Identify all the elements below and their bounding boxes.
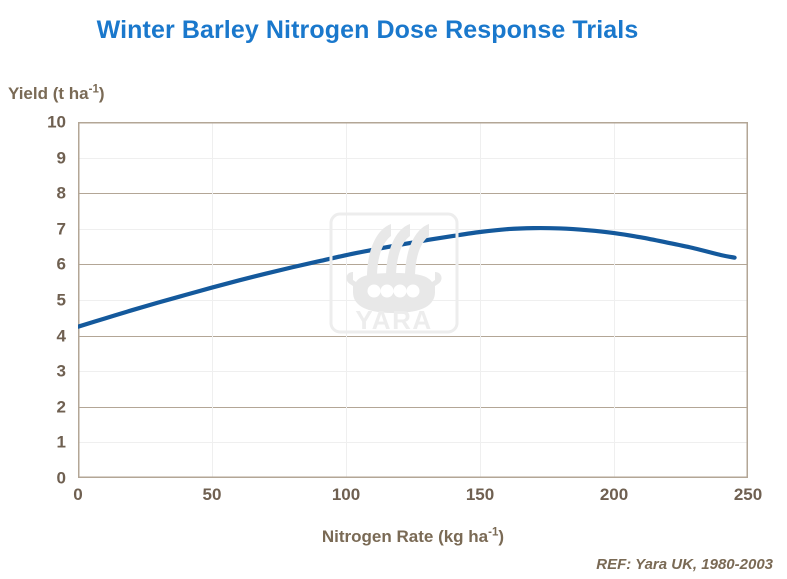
x-axis-title: Nitrogen Rate (kg ha-1) — [78, 527, 748, 547]
y-axis-tick-label: 9 — [22, 149, 66, 166]
x-axis-tick-label: 100 — [332, 486, 360, 503]
x-axis-title-sup: -1 — [488, 526, 498, 538]
y-axis-tick-label: 7 — [22, 220, 66, 237]
y-axis-tick-label: 3 — [22, 363, 66, 380]
x-axis-tick-labels: 050100150200250 — [78, 486, 748, 512]
y-axis-tick-label: 10 — [22, 114, 66, 131]
y-axis-title-base: Yield (t ha — [8, 84, 89, 103]
x-axis-tick-label: 50 — [203, 486, 222, 503]
chart-container: Winter Barley Nitrogen Dose Response Tri… — [0, 0, 787, 579]
y-axis-tick-label: 6 — [22, 256, 66, 273]
y-axis-tick-labels: 012345678910 — [16, 122, 66, 478]
reference-note: REF: Yara UK, 1980-2003 — [596, 556, 773, 573]
x-axis-title-base: Nitrogen Rate (kg ha — [322, 527, 488, 546]
x-axis-tick-label: 250 — [734, 486, 762, 503]
plot-canvas — [78, 122, 748, 478]
y-axis-title: Yield (t ha-1) — [8, 84, 105, 104]
x-axis-tick-label: 0 — [73, 486, 82, 503]
gridlines — [78, 122, 748, 478]
plot-area — [78, 122, 748, 478]
y-axis-title-tail: ) — [99, 84, 105, 103]
y-axis-title-sup: -1 — [89, 83, 99, 95]
y-axis-tick-label: 1 — [22, 434, 66, 451]
y-axis-tick-label: 0 — [22, 470, 66, 487]
x-axis-title-tail: ) — [498, 527, 504, 546]
y-axis-tick-label: 2 — [22, 398, 66, 415]
y-axis-tick-label: 5 — [22, 292, 66, 309]
x-axis-tick-label: 200 — [600, 486, 628, 503]
x-axis-tick-label: 150 — [466, 486, 494, 503]
yield-response-curve — [78, 228, 735, 327]
chart-title: Winter Barley Nitrogen Dose Response Tri… — [0, 16, 735, 45]
y-axis-tick-label: 4 — [22, 327, 66, 344]
y-axis-tick-label: 8 — [22, 185, 66, 202]
